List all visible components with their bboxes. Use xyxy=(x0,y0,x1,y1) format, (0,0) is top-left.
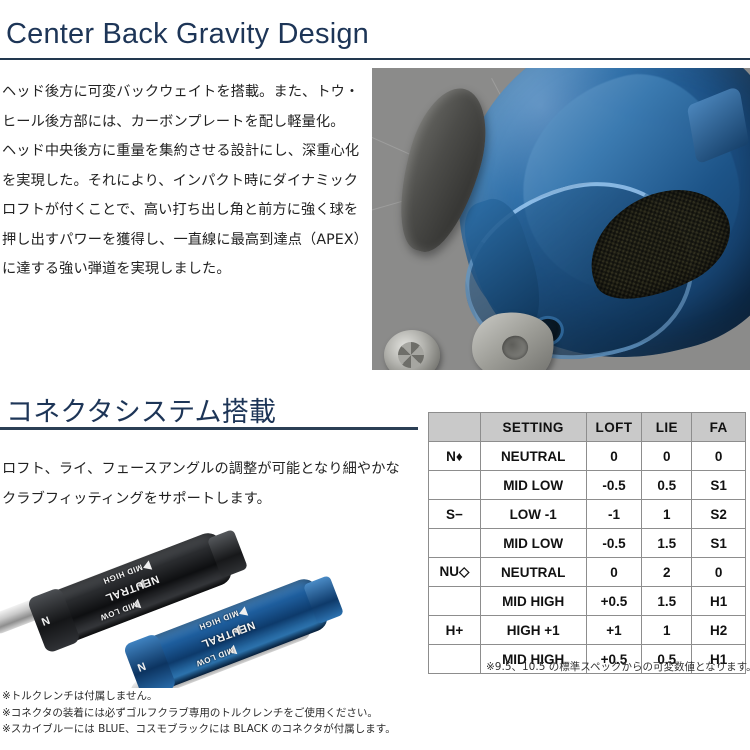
cell-lie: 1 xyxy=(642,616,692,645)
connector-spec-table: SETTING LOFT LIE FA N♦ NEUTRAL 0 0 0 MID… xyxy=(428,412,746,674)
table-row: H+ HIGH +1 +1 1 H2 xyxy=(429,616,746,645)
paragraph-line: ロフト、ライ、フェースアングルの調整が可能となり細やかな xyxy=(2,455,372,485)
cell-code: H+ xyxy=(429,616,481,645)
cell-fa: 0 xyxy=(692,442,746,471)
cell-fa: S1 xyxy=(692,529,746,558)
section-1-paragraph: ヘッド後方に可変バックウェイトを搭載。また、トウ・ ヒール後方部には、カーボンプ… xyxy=(2,78,368,285)
cell-loft: -0.5 xyxy=(586,471,642,500)
cell-setting: MID HIGH xyxy=(480,587,586,616)
footnotes: ※トルクレンチは付属しません。 ※コネクタの装着には必ずゴルフクラブ専用のトルク… xyxy=(2,688,396,738)
section-2-paragraph: ロフト、ライ、フェースアングルの調整が可能となり細やかな クラブフィッティングを… xyxy=(2,455,372,514)
footnote-line: ※トルクレンチは付属しません。 xyxy=(2,688,396,705)
paragraph-line: ヒール後方部には、カーボンプレートを配し軽量化。 xyxy=(2,108,368,138)
table-row: MID HIGH +0.5 1.5 H1 xyxy=(429,587,746,616)
connector-sleeves-image: MID HIGH NEUTRAL MID LOW N MID HIGH NEUT… xyxy=(0,512,414,688)
cell-setting: MID LOW xyxy=(480,529,586,558)
table-row: NU◇ NEUTRAL 0 2 0 xyxy=(429,558,746,587)
cell-code xyxy=(429,529,481,558)
footnote-line: ※スカイブルーには BLUE、コスモブラックには BLACK のコネクタが付属し… xyxy=(2,721,396,738)
paragraph-line: に達する強い弾道を実現しました。 xyxy=(2,255,368,285)
cell-lie: 0.5 xyxy=(642,471,692,500)
section-2-divider xyxy=(0,427,418,430)
table-row: N♦ NEUTRAL 0 0 0 xyxy=(429,442,746,471)
spec-table-container: SETTING LOFT LIE FA N♦ NEUTRAL 0 0 0 MID… xyxy=(428,412,746,674)
cell-fa: S1 xyxy=(692,471,746,500)
spec-table-note: ※9.5、10.5 の標準スペックからの可変数値となります。 xyxy=(486,659,750,674)
cell-code xyxy=(429,645,481,674)
header-lie: LIE xyxy=(642,413,692,442)
paragraph-line: クラブフィッティングをサポートします。 xyxy=(2,485,372,515)
header-fa: FA xyxy=(692,413,746,442)
table-row: S− LOW -1 -1 1 S2 xyxy=(429,500,746,529)
cell-setting: LOW -1 xyxy=(480,500,586,529)
table-row: MID LOW -0.5 1.5 S1 xyxy=(429,529,746,558)
cell-lie: 1 xyxy=(642,500,692,529)
weight-screw-bolt xyxy=(384,330,440,370)
cell-lie: 1.5 xyxy=(642,587,692,616)
section-1-divider xyxy=(0,58,750,60)
cell-fa: S2 xyxy=(692,500,746,529)
cell-fa: H1 xyxy=(692,587,746,616)
cell-code: N♦ xyxy=(429,442,481,471)
driver-head-image xyxy=(372,68,750,370)
paragraph-line: 押し出すパワーを獲得し、一直線に最高到達点（APEX） xyxy=(2,226,368,256)
cell-setting: HIGH +1 xyxy=(480,616,586,645)
paragraph-line: ヘッド後方に可変バックウェイトを搭載。また、トウ・ xyxy=(2,78,368,108)
cell-loft: 0 xyxy=(586,558,642,587)
cell-code: NU◇ xyxy=(429,558,481,587)
section-2-heading: コネクタシステム搭載 xyxy=(6,390,276,429)
section-1-heading: Center Back Gravity Design xyxy=(6,18,369,51)
cell-code xyxy=(429,471,481,500)
cell-fa: H2 xyxy=(692,616,746,645)
cell-loft: -0.5 xyxy=(586,529,642,558)
cell-loft: -1 xyxy=(586,500,642,529)
footnote-line: ※コネクタの装着には必ずゴルフクラブ専用のトルクレンチをご使用ください。 xyxy=(2,705,396,722)
cell-lie: 2 xyxy=(642,558,692,587)
header-code xyxy=(429,413,481,442)
cell-lie: 0 xyxy=(642,442,692,471)
paragraph-line: を実現した。それにより、インパクト時にダイナミック xyxy=(2,167,368,197)
cell-setting: MID LOW xyxy=(480,471,586,500)
cell-setting: NEUTRAL xyxy=(480,558,586,587)
paragraph-line: ヘッド中央後方に重量を集約させる設計にし、深重心化 xyxy=(2,137,368,167)
table-header-row: SETTING LOFT LIE FA xyxy=(429,413,746,442)
product-feature-page: Center Back Gravity Design ヘッド後方に可変バックウェ… xyxy=(0,0,750,750)
cell-lie: 1.5 xyxy=(642,529,692,558)
cell-code: S− xyxy=(429,500,481,529)
header-setting: SETTING xyxy=(480,413,586,442)
cell-code xyxy=(429,587,481,616)
cell-fa: 0 xyxy=(692,558,746,587)
cell-loft: +1 xyxy=(586,616,642,645)
cell-loft: +0.5 xyxy=(586,587,642,616)
cell-loft: 0 xyxy=(586,442,642,471)
table-row: MID LOW -0.5 0.5 S1 xyxy=(429,471,746,500)
paragraph-line: ロフトが付くことで、高い打ち出し角と前方に強く球を xyxy=(2,196,368,226)
header-loft: LOFT xyxy=(586,413,642,442)
cell-setting: NEUTRAL xyxy=(480,442,586,471)
